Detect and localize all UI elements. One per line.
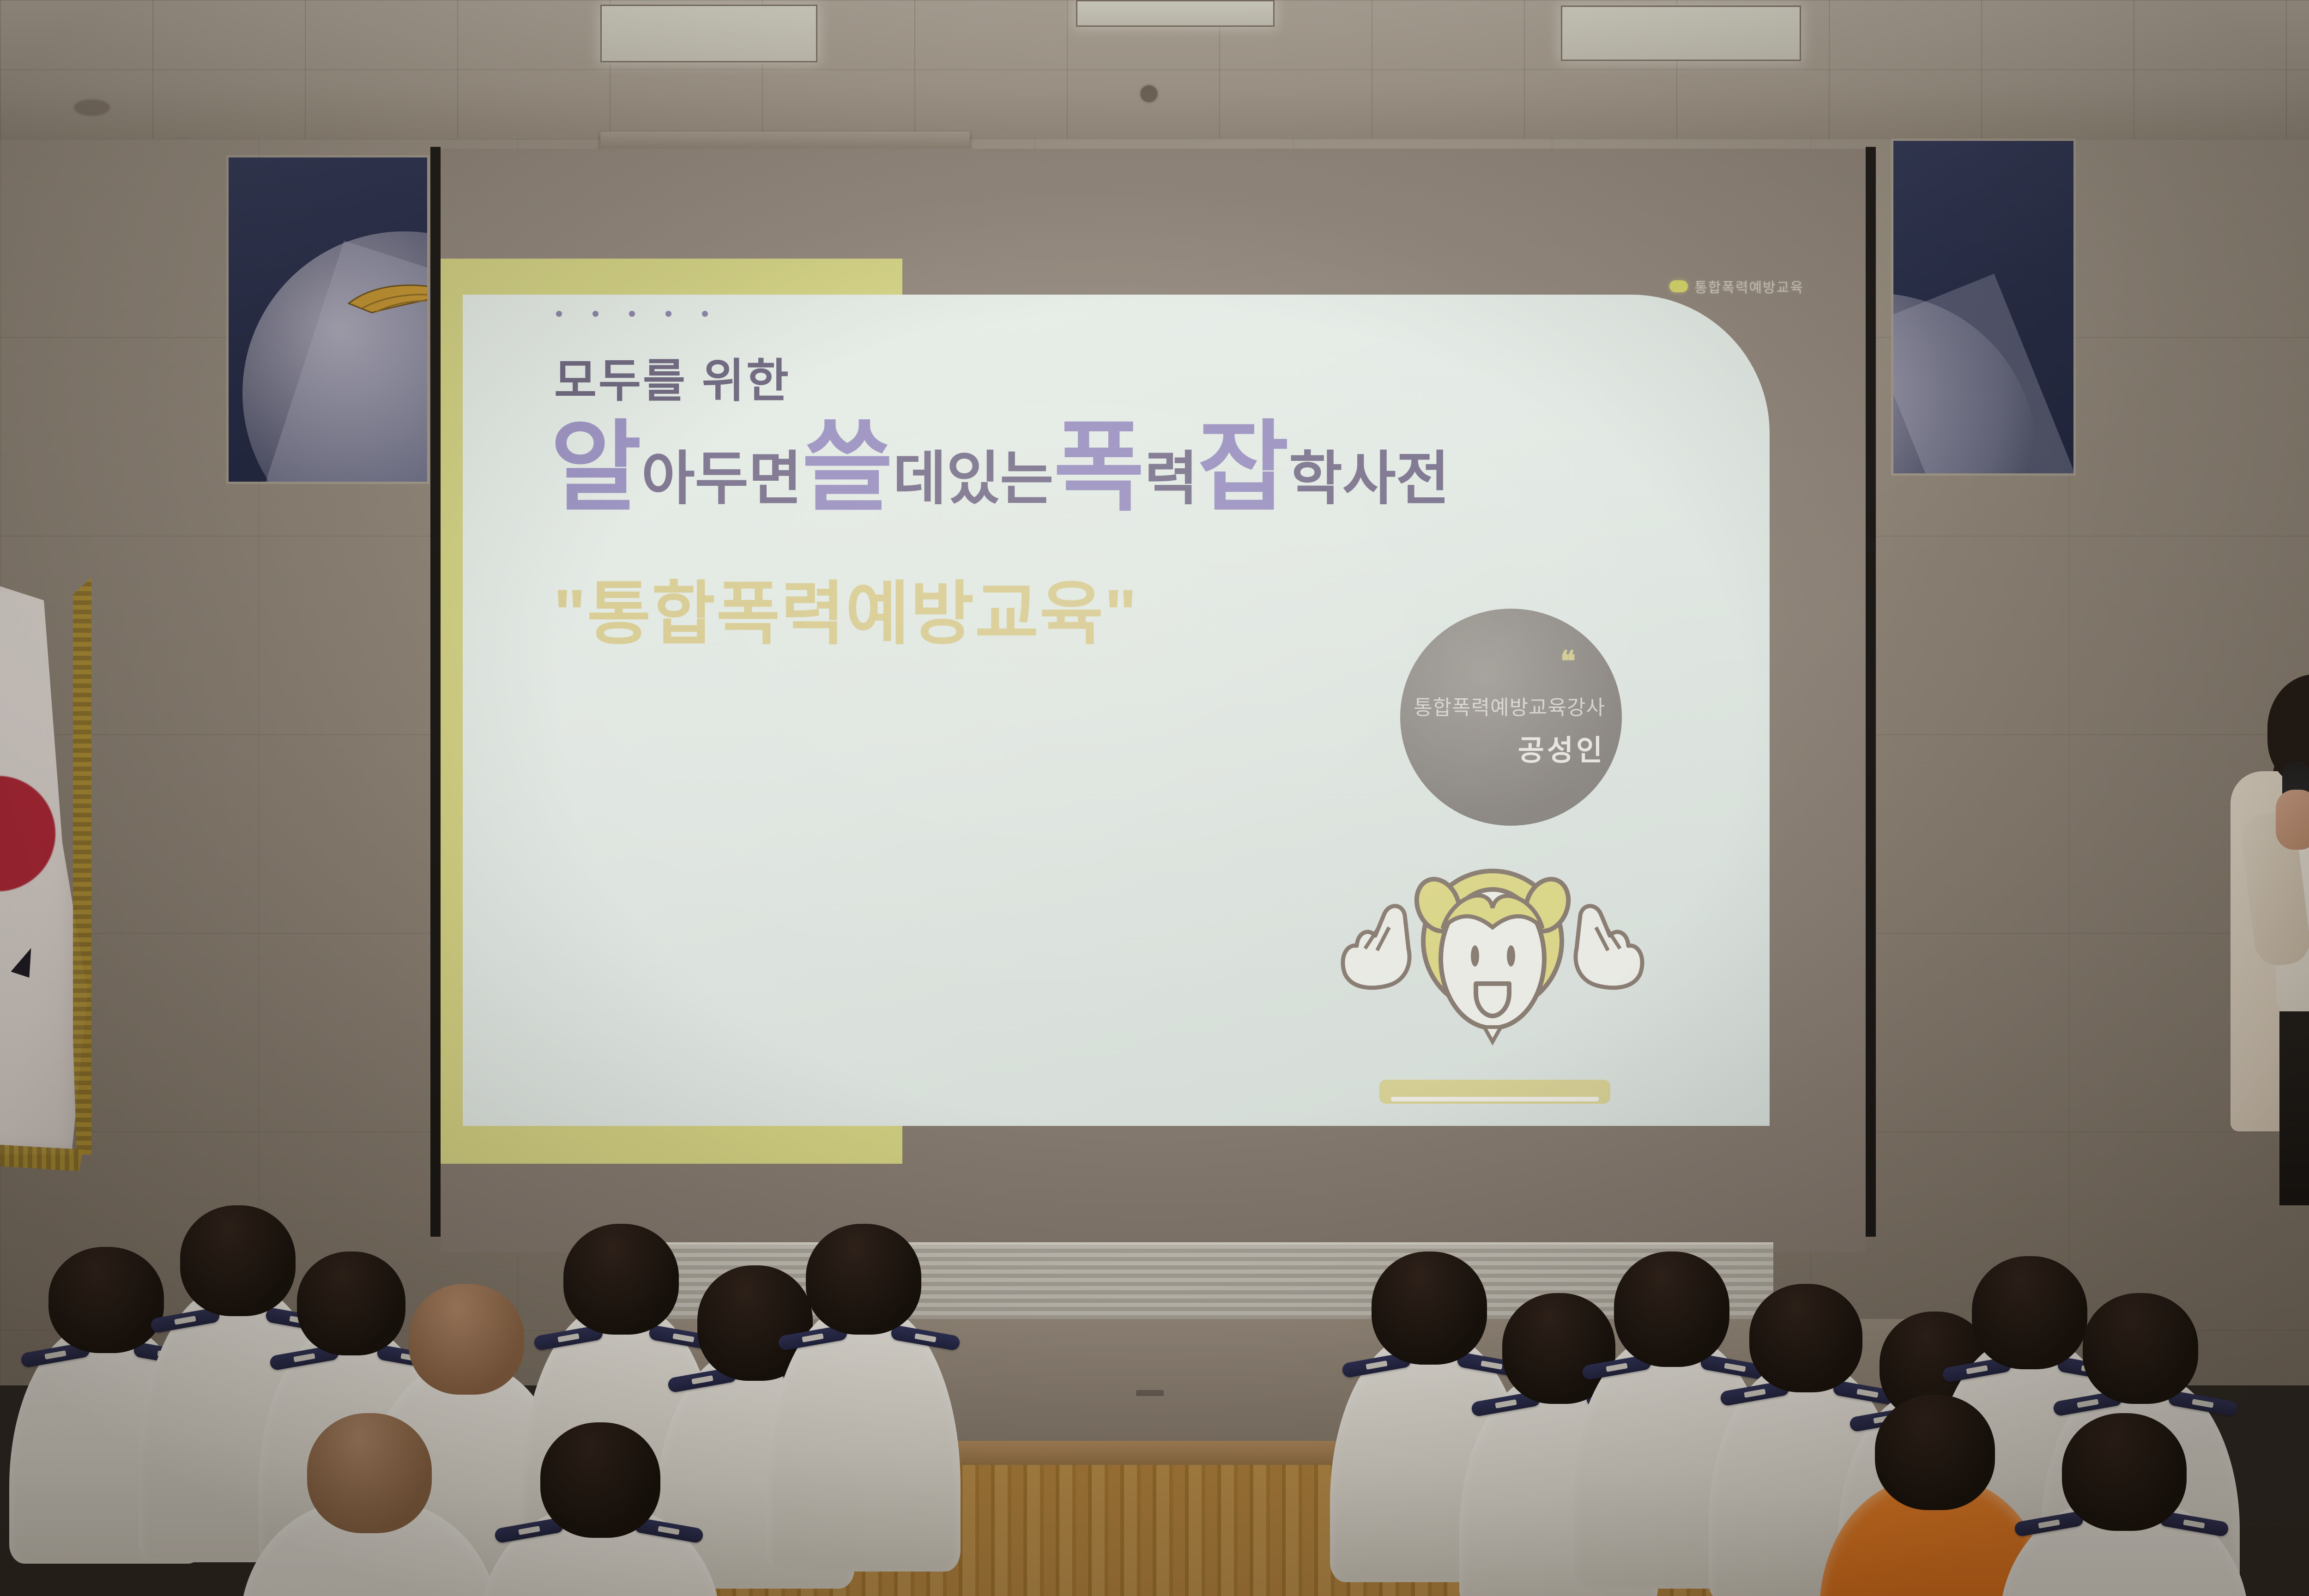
slide-decorative-dots (556, 311, 708, 317)
gold-winged-emblem-icon (344, 273, 429, 319)
epaulette-rank-pip (2183, 1519, 2205, 1529)
dot-4 (665, 311, 671, 317)
title-part-7: 잡 (1198, 419, 1289, 516)
ceiling-light-3 (1076, 0, 1275, 27)
ceiling (0, 0, 2309, 152)
epaulette-rank-pip (557, 1333, 579, 1342)
slide-logo-mark-icon (1669, 280, 1688, 292)
slide-subtitle-quoted: "통합폭력예방교육" (553, 558, 1138, 658)
audience-head (2083, 1293, 2198, 1404)
title-part-4: 데있는 (893, 450, 1054, 508)
ceiling-light-1 (600, 5, 817, 62)
epaulette-rank-pip (802, 1333, 823, 1342)
audience-head (540, 1422, 660, 1538)
epaulette-rank-pip (1966, 1365, 1988, 1374)
epaulette-rank-pip (658, 1526, 679, 1535)
speaker-role: 통합폭력예방교육강사 (1414, 691, 1605, 720)
audience-member (767, 1224, 961, 1596)
dot-3 (629, 311, 635, 317)
title-part-5: 폭 (1053, 419, 1144, 516)
speaker-name: 공성인 (1518, 727, 1605, 768)
epaulette-rank-pip (1366, 1360, 1387, 1370)
title-part-3: 쓸 (802, 419, 893, 516)
audience (0, 1007, 2309, 1596)
wall-banner-left (226, 155, 429, 484)
slide-logo: 통합폭력예방교육 (1669, 276, 1804, 296)
title-part-1: 알 (550, 419, 641, 516)
title-part-8: 학사전 (1289, 450, 1450, 508)
epaulette-rank-pip (691, 1375, 713, 1384)
audience-head (307, 1413, 432, 1533)
epaulette-rank-pip (2038, 1519, 2060, 1529)
title-part-6: 력 (1144, 450, 1198, 508)
title-part-2: 아두면 (641, 450, 802, 508)
epaulette-rank-pip (2192, 1399, 2213, 1408)
audience-member (240, 1413, 499, 1596)
dot-5 (702, 311, 708, 317)
audience-head (2062, 1413, 2187, 1531)
audience-head (806, 1224, 921, 1335)
epaulette-rank-pip (1606, 1363, 1628, 1372)
ceiling-light-2 (1561, 6, 1801, 61)
epaulette-rank-pip (914, 1333, 936, 1342)
slide-content-card: 모두를 위한 알 아두면 쓸 데있는 폭 력 잡 학사전 "통합폭력예방교육" … (463, 295, 1770, 1126)
dot-2 (592, 311, 598, 317)
epaulette-rank-pip (1744, 1389, 1765, 1398)
speaker-badge: ❝ 통합폭력예방교육강사 공성인 (1400, 609, 1622, 826)
ceiling-stain-1 (74, 99, 110, 116)
audience-head (409, 1284, 524, 1395)
audience-head (1875, 1395, 1995, 1510)
quote-mark-icon: ❝ (1560, 654, 1576, 669)
dot-1 (556, 311, 562, 317)
epaulette-rank-pip (293, 1353, 315, 1362)
presenter-hand (2276, 790, 2309, 850)
slide-eyebrow-text: 모두를 위한 (554, 343, 791, 410)
wall-banner-right (1891, 139, 2076, 476)
sprinkler-head-icon (1141, 85, 1157, 102)
auditorium-scene: 통합폭력예방교육 모두를 위한 알 아두면 쓸 데있는 폭 력 잡 학사전 (0, 0, 2309, 1596)
epaulette-rank-pip (174, 1316, 196, 1325)
epaulette-rank-pip (1495, 1399, 1517, 1409)
slide-main-title: 알 아두면 쓸 데있는 폭 력 잡 학사전 (550, 419, 1450, 516)
audience-member (480, 1422, 720, 1596)
epaulette-rank-pip (2077, 1399, 2098, 1408)
audience-member (2000, 1413, 2249, 1596)
epaulette-rank-pip (518, 1526, 540, 1535)
slide-logo-text: 통합폭력예방교육 (1694, 276, 1804, 296)
epaulette-rank-pip (44, 1350, 66, 1360)
